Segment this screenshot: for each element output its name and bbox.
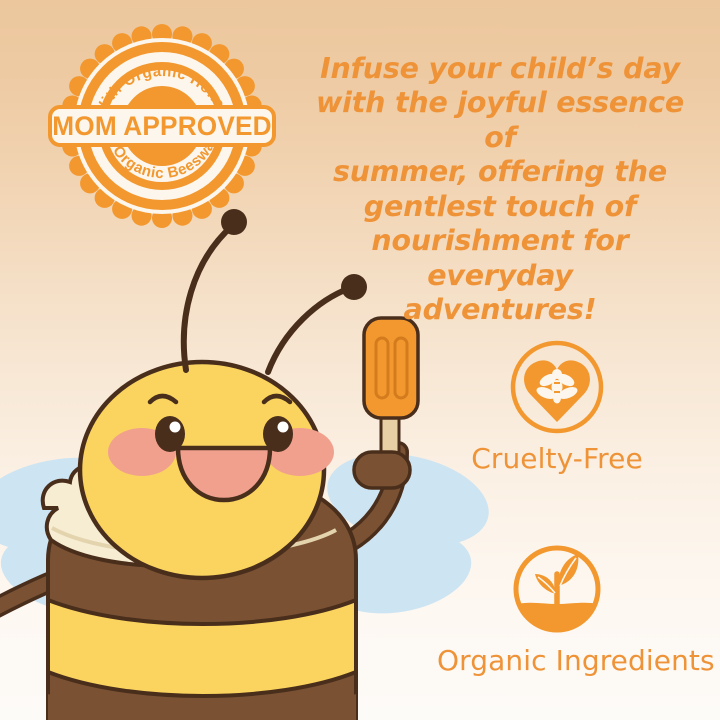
badge-center-text: MOM APPROVED: [52, 111, 271, 141]
sprout-seedling-icon: [508, 540, 606, 638]
feature-label-organic-ingredients: Organic Ingredients: [437, 644, 677, 677]
feature-cruelty-free: Cruelty-Free: [437, 338, 677, 475]
bee-hand: [354, 452, 410, 488]
headline-line: Infuse your child’s day: [300, 52, 700, 86]
product-promo-poster: With Organic Honey & Organic Beeswax MOM…: [0, 0, 720, 720]
headline-line: with the joyful essence of: [300, 86, 700, 155]
antenna-tip-left: [221, 209, 247, 235]
mom-approved-seal: With Organic Honey & Organic Beeswax MOM…: [50, 24, 274, 228]
headline-line: gentlest touch of: [300, 190, 700, 224]
feature-label-cruelty-free: Cruelty-Free: [437, 442, 677, 475]
feature-organic-ingredients: Organic Ingredients: [437, 540, 677, 677]
headline-text: Infuse your child’s day with the joyful …: [300, 52, 700, 328]
headline-line: summer, offering the: [300, 155, 700, 189]
headline-line: adventures!: [300, 293, 700, 327]
popsicle-body: [364, 318, 418, 418]
heart-with-bee-icon: [508, 338, 606, 436]
headline-line: nourishment for everyday: [300, 224, 700, 293]
